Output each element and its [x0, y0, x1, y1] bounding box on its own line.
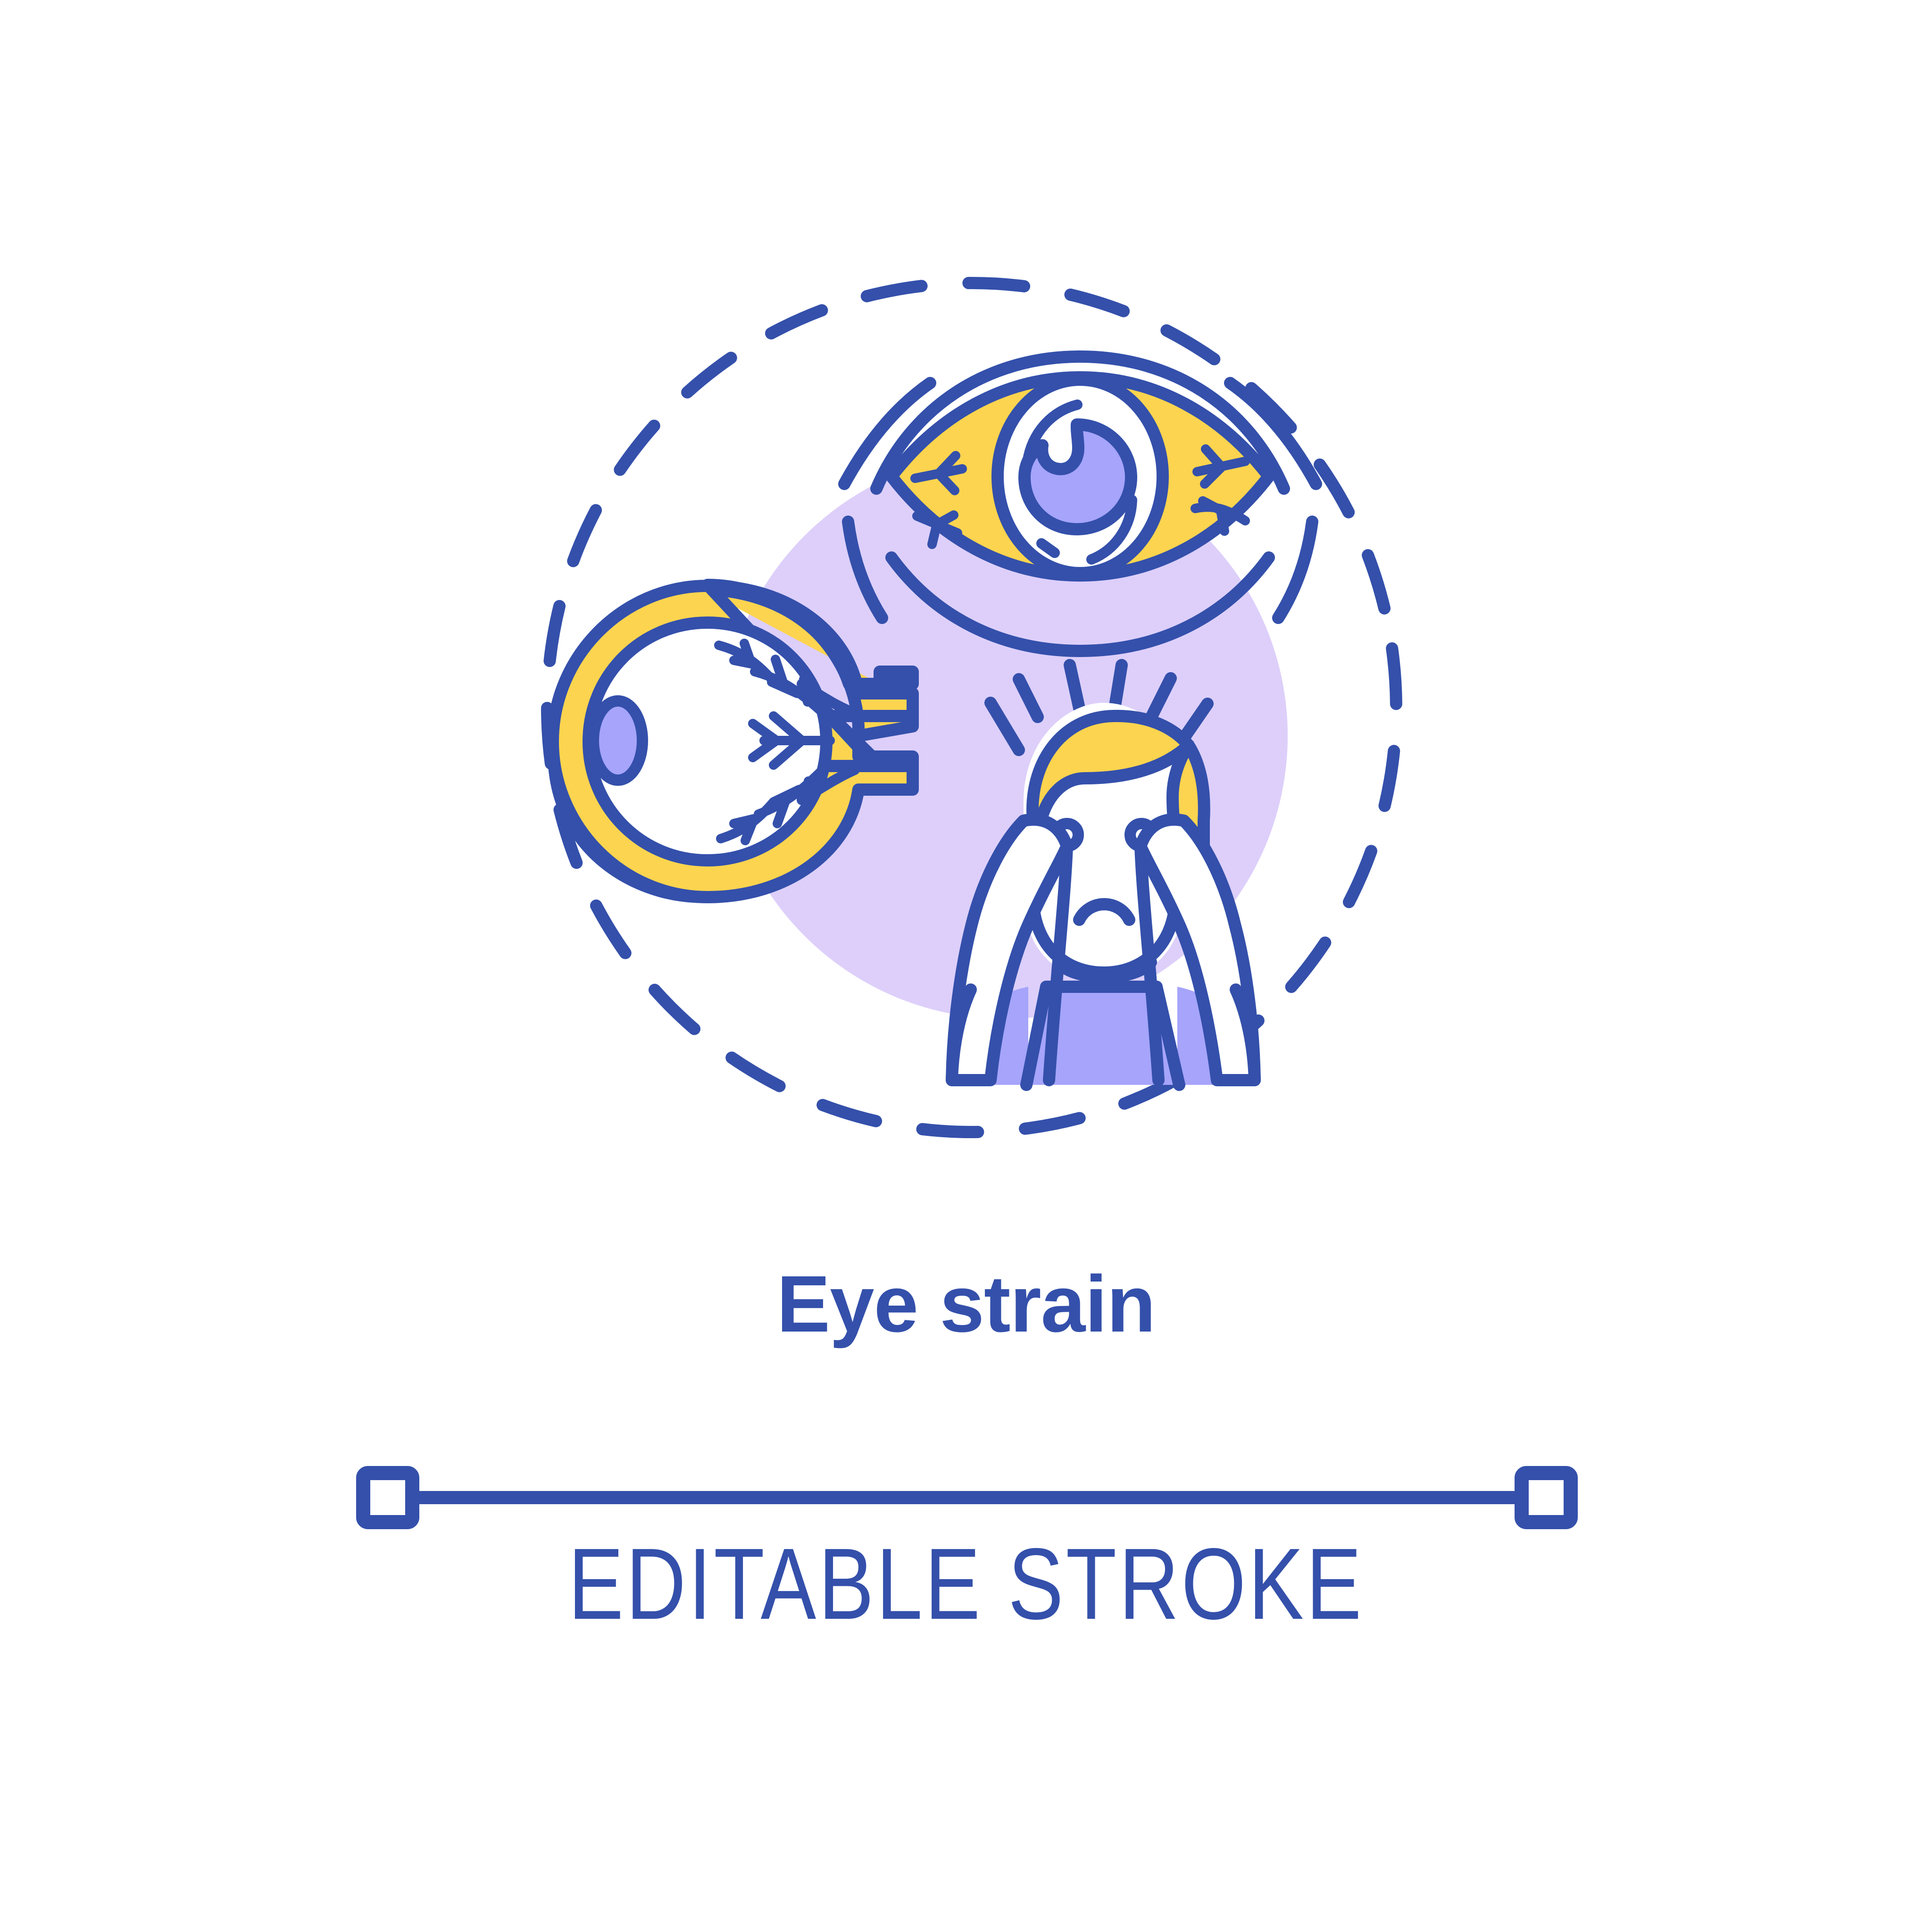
- icon-canvas: .ln { fill:none; stroke:#3450ab; stroke-…: [0, 0, 1932, 1932]
- stroke-width-indicator[interactable]: [363, 1473, 1571, 1522]
- stroke-handle-right: [1522, 1473, 1571, 1522]
- page-title: Eye strain: [0, 1264, 1932, 1344]
- eye-strain-concept-illustration: .ln { fill:none; stroke:#3450ab; stroke-…: [0, 0, 1932, 1932]
- eye-lens: [593, 701, 642, 780]
- editable-stroke-label: EDITABLE STROKE: [174, 1533, 1758, 1634]
- stroke-handle-left: [363, 1473, 412, 1522]
